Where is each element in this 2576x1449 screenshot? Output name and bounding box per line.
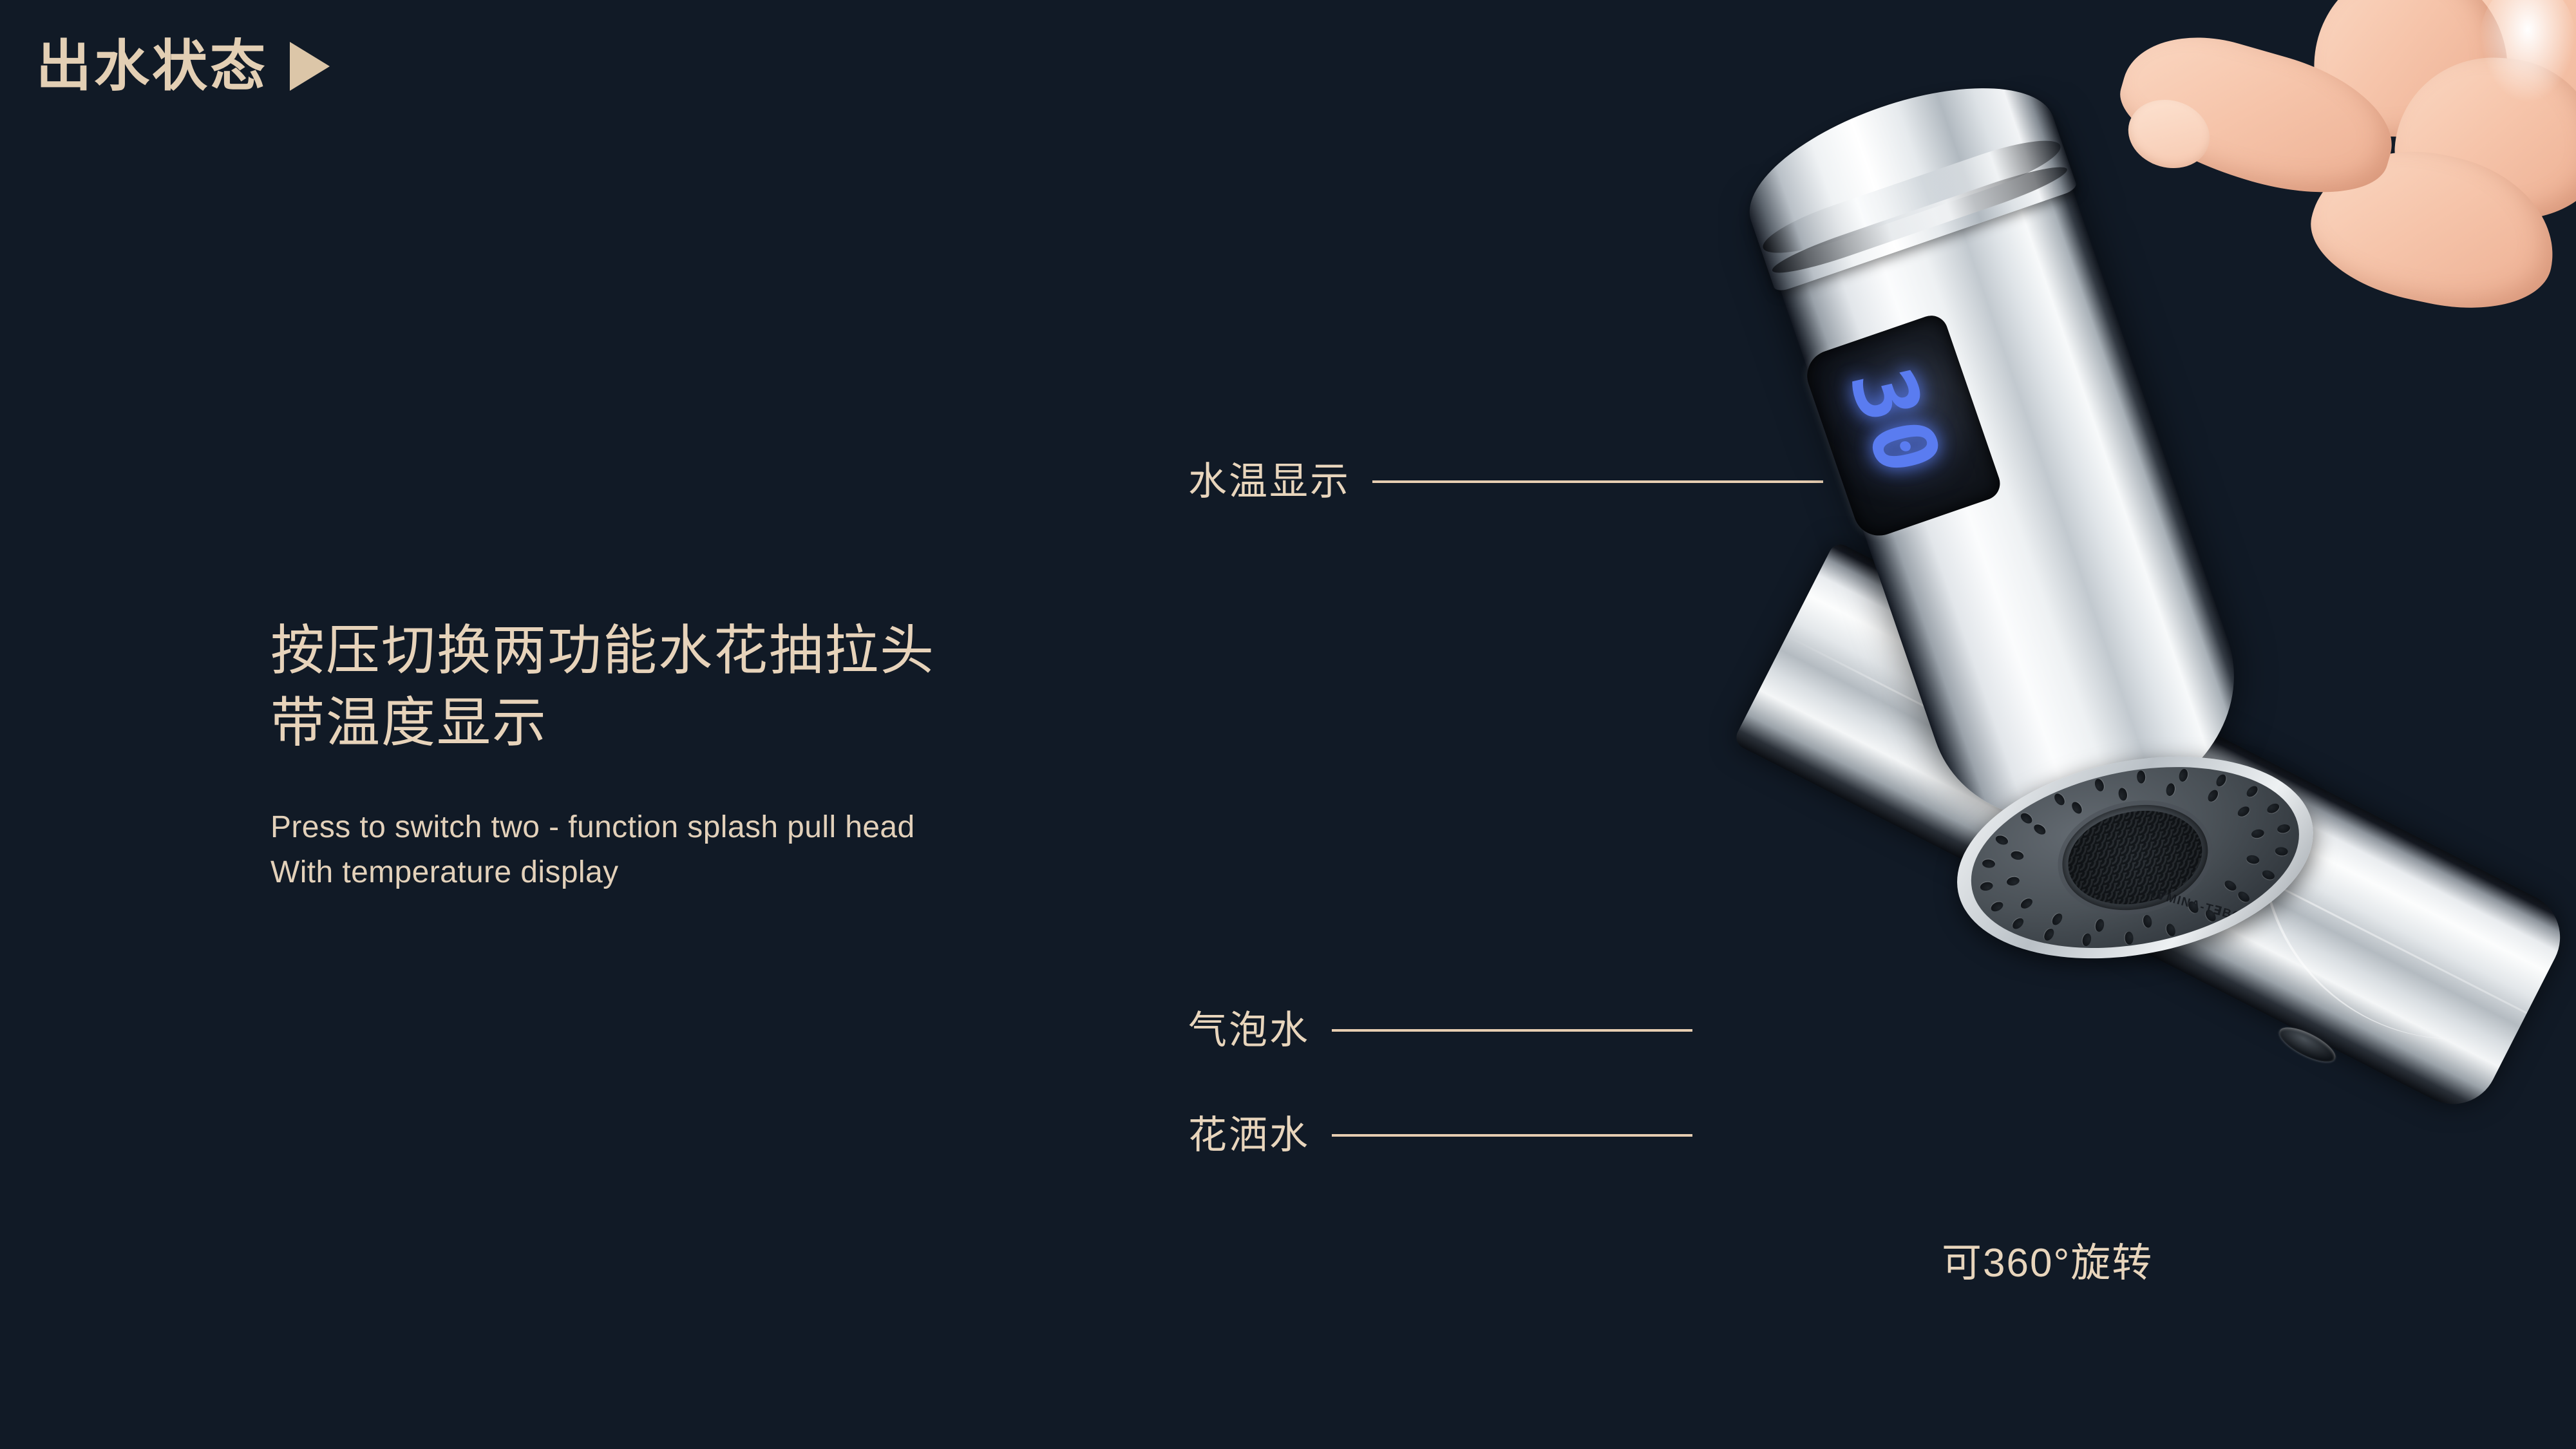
subhead-en-line-2: With temperature display xyxy=(270,850,1140,895)
spray-hole xyxy=(2250,828,2264,839)
spray-hole xyxy=(1989,900,2005,914)
callout-shower-label: 花洒水 xyxy=(1188,1116,1310,1155)
subhead-en-line-1: Press to switch two - function splash pu… xyxy=(270,805,1140,850)
spray-hole xyxy=(2236,889,2251,904)
spray-hole xyxy=(2222,878,2238,893)
feature-description: 按压切换两功能水花抽拉头 带温度显示 Press to switch two -… xyxy=(270,615,1140,895)
spray-hole xyxy=(2019,896,2034,911)
spray-hole xyxy=(2244,784,2259,799)
spray-hole xyxy=(2137,770,2146,784)
spray-hole xyxy=(2125,931,2134,945)
spray-hole xyxy=(2275,847,2288,857)
spray-hole xyxy=(2052,791,2067,807)
hand-pressing-icon xyxy=(2119,0,2576,303)
spray-hole xyxy=(2093,778,2105,793)
spray-hole xyxy=(2246,855,2260,866)
spray-hole xyxy=(2266,801,2281,815)
callout-bubble-label: 气泡水 xyxy=(1188,1011,1310,1050)
page-header: 出水状态 xyxy=(36,39,330,94)
spray-hole xyxy=(2032,822,2048,837)
spray-hole xyxy=(1994,834,2009,846)
spray-hole xyxy=(2260,869,2275,881)
spray-hole xyxy=(1980,881,1994,892)
spray-hole xyxy=(2011,916,2025,931)
spray-hole xyxy=(2206,788,2220,804)
spray-hole xyxy=(2165,782,2176,797)
spray-hole xyxy=(2081,933,2092,947)
spray-hole xyxy=(2117,787,2128,801)
headline-cn-line-1: 按压切换两功能水花抽拉头 xyxy=(270,615,1140,687)
temperature-led-value: 30 xyxy=(1835,361,1955,484)
spray-hole xyxy=(2177,768,2188,782)
play-triangle-icon xyxy=(290,42,330,91)
spray-hole xyxy=(2010,850,2024,861)
spray-hole xyxy=(1982,858,1995,868)
callout-rotation-label: 可360°旋转 xyxy=(1942,1230,2153,1288)
spray-hole xyxy=(2142,914,2153,928)
spray-hole xyxy=(2019,811,2034,826)
product-feature-slide: 出水状态 按压切换两功能水花抽拉头 带温度显示 Press to switch … xyxy=(0,0,2576,1449)
spray-hole xyxy=(2277,823,2291,834)
spray-hole xyxy=(2214,773,2228,788)
spray-hole xyxy=(2050,911,2065,927)
spray-hole xyxy=(2070,800,2084,816)
spray-hole xyxy=(2236,804,2251,819)
callout-temperature-label: 水温显示 xyxy=(1188,462,1350,501)
spray-hole xyxy=(2165,922,2177,937)
spray-hole xyxy=(2005,876,2020,887)
spray-hole xyxy=(2094,918,2105,933)
spray-hole xyxy=(2042,927,2056,942)
page-title: 出水状态 xyxy=(36,39,268,94)
headline-cn-line-2: 带温度显示 xyxy=(270,687,1140,759)
